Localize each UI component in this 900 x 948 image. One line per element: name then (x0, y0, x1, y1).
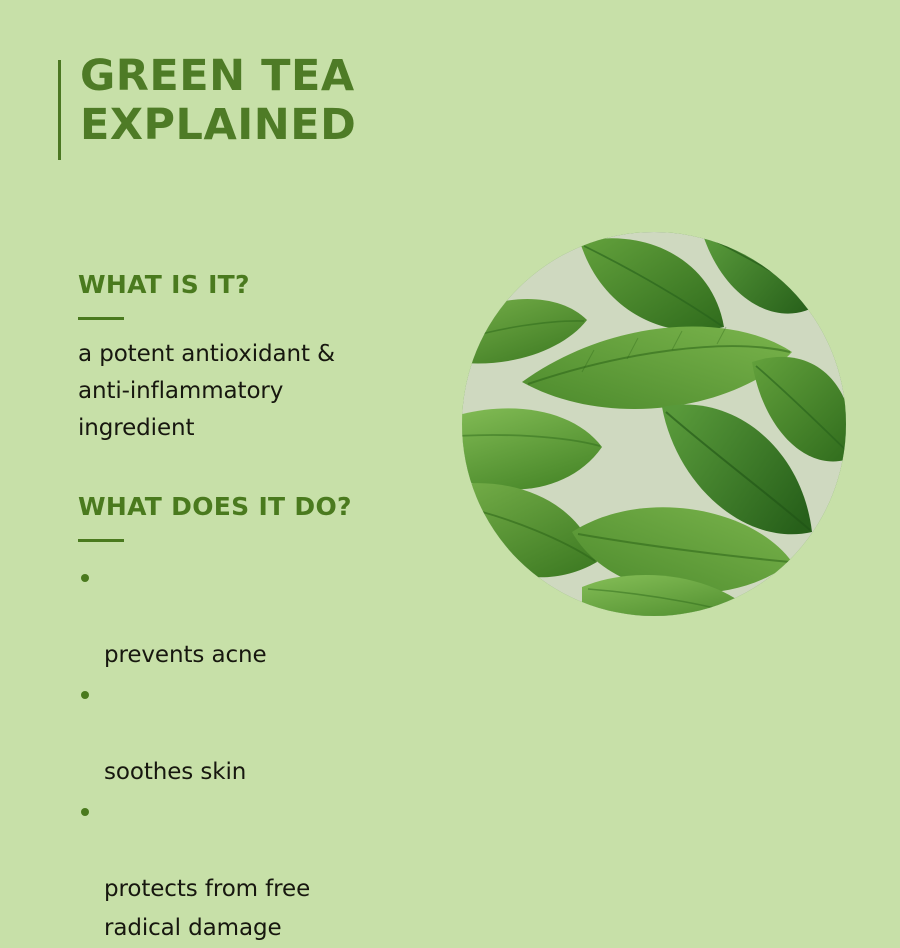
list-item: prevents acne (78, 558, 448, 675)
page-title: GREEN TEA EXPLAINED (80, 52, 480, 150)
section-heading-what-is-it: WHAT IS IT? (78, 270, 448, 300)
infographic-canvas: GREEN TEA EXPLAINED WHAT IS IT? a potent… (0, 0, 900, 900)
list-item: soothes skin (78, 675, 448, 792)
content-column: WHAT IS IT? a potent antioxidant & anti-… (78, 270, 448, 948)
list-item-label: prevents acne (104, 642, 267, 668)
section-divider-rule (78, 317, 124, 320)
title-block: GREEN TEA EXPLAINED (58, 58, 478, 170)
title-accent-bar (58, 60, 61, 160)
section-spacer (78, 447, 448, 492)
benefits-list: prevents acne soothes skin protects from… (78, 558, 448, 948)
list-item-label: soothes skin (104, 759, 246, 785)
green-tea-leaves-photo (462, 232, 846, 616)
leaves-illustration (462, 232, 846, 616)
section-what-is-it: WHAT IS IT? a potent antioxidant & anti-… (78, 270, 448, 447)
section-body-what-is-it: a potent antioxidant & anti-inflammatory… (78, 336, 448, 447)
list-item: protects from free radical damage (78, 792, 448, 948)
section-divider-rule (78, 539, 124, 542)
bullet-dot-icon (81, 691, 89, 699)
bullet-dot-icon (81, 574, 89, 582)
section-what-does-it-do: WHAT DOES IT DO? prevents acne soothes s… (78, 492, 448, 948)
list-item-label: protects from free radical damage (104, 876, 310, 941)
bullet-dot-icon (81, 808, 89, 816)
section-heading-what-does-it-do: WHAT DOES IT DO? (78, 492, 448, 522)
